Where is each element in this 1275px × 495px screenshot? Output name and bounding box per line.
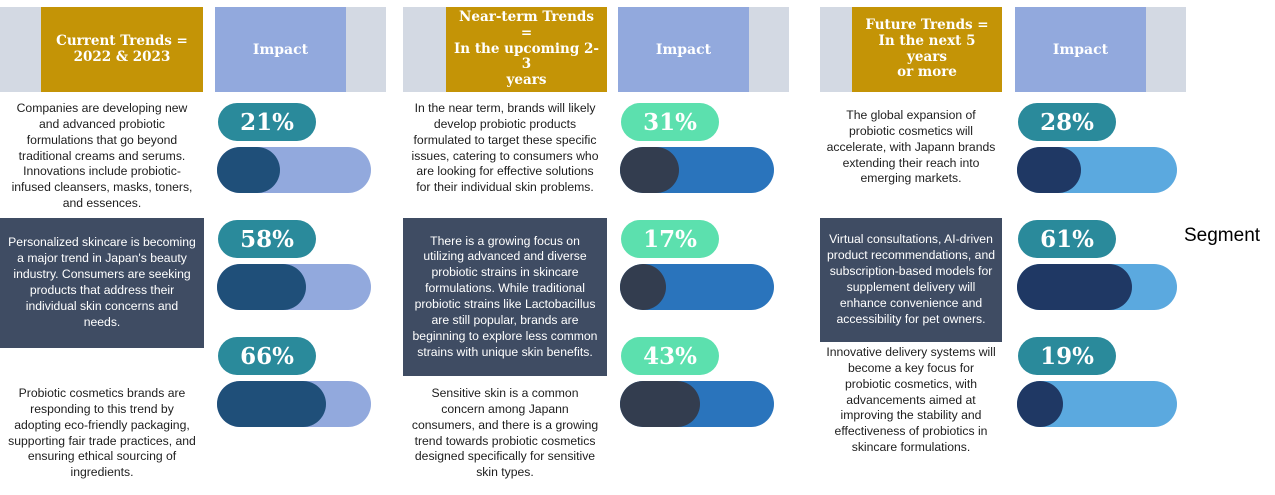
impact-bar-track xyxy=(620,147,774,193)
impact-percent-label: 21% xyxy=(240,109,294,136)
impact-bar-fill xyxy=(620,264,666,310)
impact-bar-track xyxy=(217,264,371,310)
impact-percent-pill: 61% xyxy=(1018,220,1116,258)
impact-percent-pill: 17% xyxy=(621,220,719,258)
impact-header-label: Impact xyxy=(253,42,308,58)
column-title-line-2: In the upcoming 2-3 xyxy=(452,42,601,74)
impact-bar-track xyxy=(1017,381,1177,427)
impact-header-block: Impact xyxy=(215,7,346,92)
impact-percent-pill: 43% xyxy=(621,337,719,375)
impact-bar-fill xyxy=(217,264,306,310)
impact-header-block: Impact xyxy=(1015,7,1146,92)
impact-bar-fill xyxy=(620,381,700,427)
impact-percent-label: 43% xyxy=(643,343,697,370)
impact-bar-fill xyxy=(1017,381,1063,427)
impact-bar-track xyxy=(1017,264,1177,310)
column-header-row: Near-term Trends = In the upcoming 2-3 y… xyxy=(403,7,803,92)
impact-percent-label: 28% xyxy=(1040,109,1094,136)
infographic-board: Current Trends = 2022 & 2023 Impact Comp… xyxy=(0,0,1275,495)
impact-bar-fill xyxy=(217,381,326,427)
impact-percent-pill: 19% xyxy=(1018,337,1116,375)
column-title-block: Future Trends = In the next 5 years or m… xyxy=(852,7,1002,92)
trend-description: In the near term, brands will likely dev… xyxy=(403,97,607,200)
impact-header-label: Impact xyxy=(1053,42,1108,58)
header-gray-spacer-right xyxy=(749,7,789,92)
column-title-line-1: Near-term Trends = xyxy=(452,10,601,42)
column-title-text: Future Trends = In the next 5 years or m… xyxy=(858,18,996,82)
trend-column-near-term: Near-term Trends = In the upcoming 2-3 y… xyxy=(403,0,803,495)
impact-bar-track xyxy=(620,381,774,427)
impact-header-block: Impact xyxy=(618,7,749,92)
column-title-line-2: 2022 & 2023 xyxy=(56,50,188,66)
header-gray-spacer-left xyxy=(403,7,446,92)
impact-bar-fill xyxy=(1017,147,1081,193)
column-title-line-1: Current Trends = xyxy=(56,34,188,50)
impact-bar-track xyxy=(1017,147,1177,193)
column-title-block: Near-term Trends = In the upcoming 2-3 y… xyxy=(446,7,607,92)
trend-description: Probiotic cosmetics brands are respondin… xyxy=(0,382,204,485)
trend-column-future: Future Trends = In the next 5 years or m… xyxy=(820,0,1220,495)
impact-bar-track xyxy=(217,147,371,193)
column-title-text: Current Trends = 2022 & 2023 xyxy=(56,34,188,66)
trend-description-highlighted: Virtual consultations, AI-driven product… xyxy=(820,218,1002,342)
impact-percent-label: 66% xyxy=(240,343,294,370)
column-title-line-3: or more xyxy=(858,65,996,81)
impact-percent-label: 61% xyxy=(1040,226,1094,253)
impact-percent-pill: 31% xyxy=(621,103,719,141)
header-gray-spacer-right xyxy=(346,7,386,92)
column-header-row: Current Trends = 2022 & 2023 Impact xyxy=(0,7,400,92)
header-gray-spacer-left xyxy=(0,7,41,92)
impact-percent-label: 17% xyxy=(643,226,697,253)
trend-description: Sensitive skin is a common concern among… xyxy=(403,382,607,485)
trend-description: Innovative delivery systems will become … xyxy=(820,341,1002,460)
impact-bar-track xyxy=(217,381,371,427)
column-title-line-3: years xyxy=(452,73,601,89)
impact-percent-pill: 21% xyxy=(218,103,316,141)
impact-percent-pill: 66% xyxy=(218,337,316,375)
column-title-block: Current Trends = 2022 & 2023 xyxy=(41,7,203,92)
trend-column-current: Current Trends = 2022 & 2023 Impact Comp… xyxy=(0,0,400,495)
impact-percent-label: 31% xyxy=(643,109,697,136)
impact-bar-fill xyxy=(1017,264,1132,310)
trend-description: Companies are developing new and advance… xyxy=(0,97,204,216)
header-gray-spacer-right xyxy=(1146,7,1186,92)
trend-description: The global expansion of probiotic cosmet… xyxy=(820,104,1002,191)
impact-percent-pill: 58% xyxy=(218,220,316,258)
impact-bar-fill xyxy=(620,147,679,193)
impact-bar-track xyxy=(620,264,774,310)
impact-percent-pill: 28% xyxy=(1018,103,1116,141)
segment-axis-label: Segment xyxy=(1184,225,1260,247)
header-gray-spacer-left xyxy=(820,7,852,92)
impact-bar-fill xyxy=(217,147,280,193)
column-header-row: Future Trends = In the next 5 years or m… xyxy=(820,7,1220,92)
column-title-line-2: In the next 5 years xyxy=(858,34,996,66)
trend-description-highlighted: There is a growing focus on utilizing ad… xyxy=(403,218,607,376)
impact-percent-label: 58% xyxy=(240,226,294,253)
column-title-text: Near-term Trends = In the upcoming 2-3 y… xyxy=(452,10,601,90)
impact-percent-label: 19% xyxy=(1040,343,1094,370)
impact-header-label: Impact xyxy=(656,42,711,58)
trend-description-highlighted: Personalized skincare is becoming a majo… xyxy=(0,218,204,348)
column-title-line-1: Future Trends = xyxy=(858,18,996,34)
